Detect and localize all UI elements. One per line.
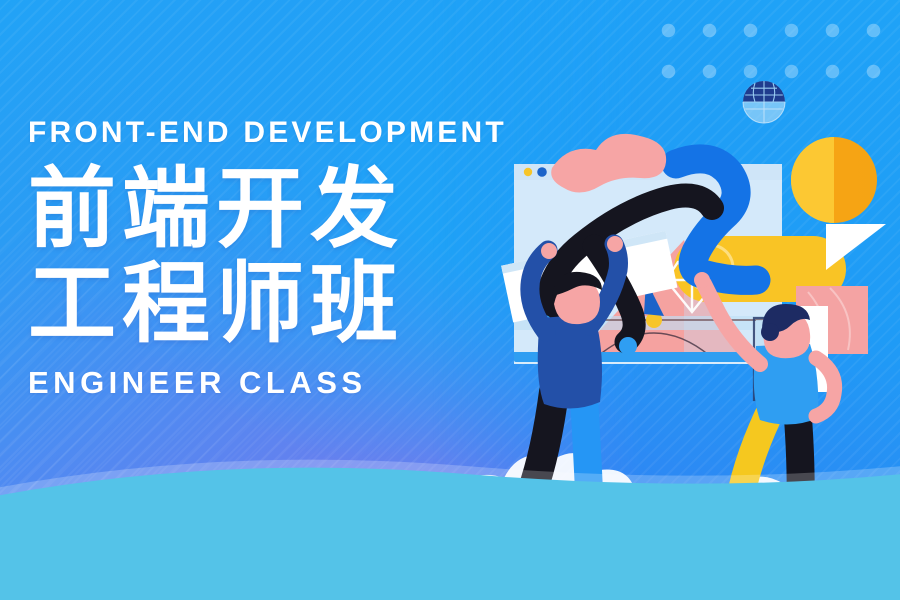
orange-circle [791, 137, 877, 223]
globe-icon [740, 78, 788, 126]
text-block: FRONT-END DEVELOPMENT 前端开发 工程师班 ENGINEER… [28, 118, 508, 398]
headline-line-2: 工程师班 [28, 257, 508, 350]
wave-band [0, 436, 900, 600]
browser-dot-blue [537, 167, 547, 177]
browser-dot-yellow [524, 168, 532, 176]
kicker-text: FRONT-END DEVELOPMENT [28, 118, 508, 148]
dot-grid-pattern [648, 10, 900, 82]
subline-text: ENGINEER CLASS [28, 367, 508, 398]
banner-root: FRONT-END DEVELOPMENT 前端开发 工程师班 ENGINEER… [0, 0, 900, 600]
headline-line-1: 前端开发 [28, 162, 508, 255]
